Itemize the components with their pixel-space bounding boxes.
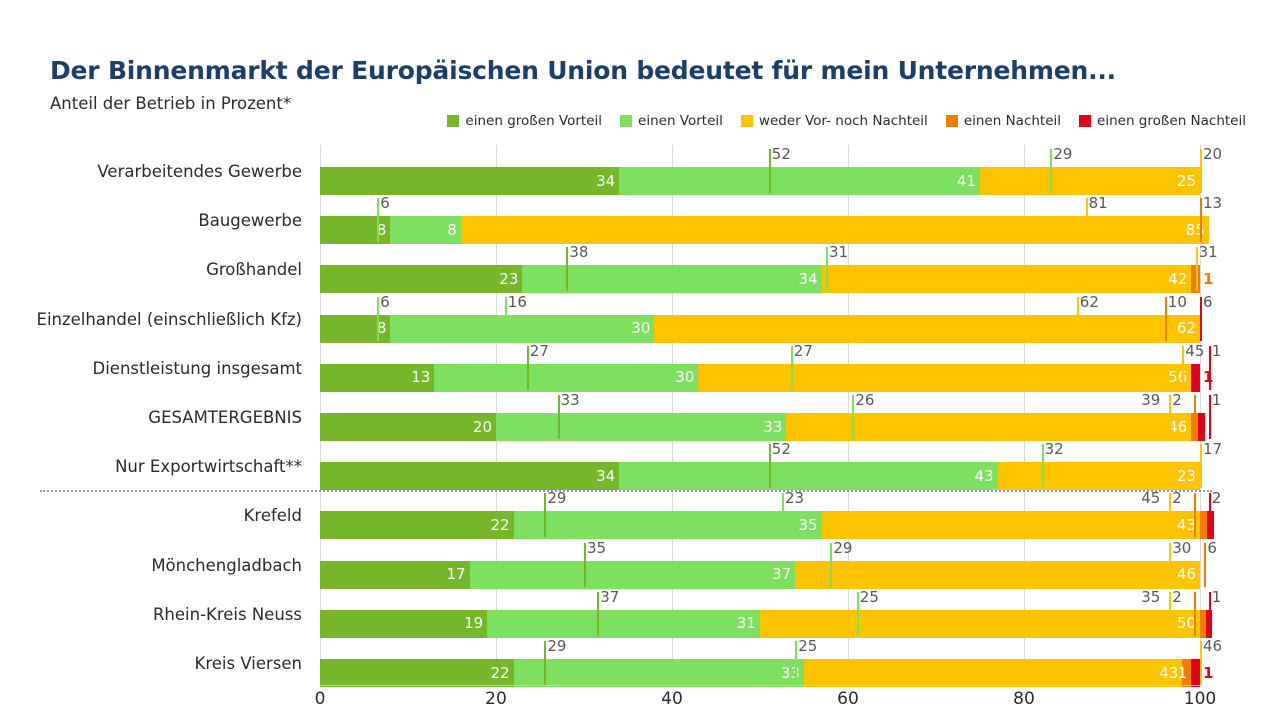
comparison-outer-value: 35	[1141, 590, 1160, 605]
segment-value-label: 35	[799, 518, 822, 533]
bar-segment[interactable]: 20	[320, 413, 496, 441]
comparison-tick-value: 81	[1089, 196, 1108, 211]
bar-segment[interactable]: 1	[1191, 659, 1200, 687]
bar-segment[interactable]: 35	[514, 511, 822, 539]
comparison-tick-value: 23	[785, 491, 804, 506]
comparison-tick-value: 6	[380, 295, 390, 310]
segment-value-label: 34	[596, 469, 619, 484]
bar-segment[interactable]: 85	[461, 216, 1209, 244]
bar-segment[interactable]: 41	[619, 167, 980, 195]
comparison-tick-marker: 16	[505, 297, 507, 341]
bar-segment[interactable]: 34	[320, 462, 619, 490]
comparison-tick-value: 1	[1212, 393, 1222, 408]
comparison-tick-marker	[1194, 592, 1196, 636]
x-tick-label: 100	[1184, 689, 1216, 709]
chart-row: Kreis Viersen22334311292546	[320, 639, 1200, 688]
comparison-tick-value: 6	[380, 196, 390, 211]
bar-segment[interactable]: 33	[496, 413, 786, 441]
segment-value-label: 41	[957, 174, 980, 189]
comparison-tick-value: 17	[1203, 442, 1222, 457]
bar-segment[interactable]: 56	[698, 364, 1191, 392]
comparison-tick-value: 1	[1212, 590, 1222, 605]
comparison-tick-value: 27	[530, 344, 549, 359]
segment-value-label: 22	[491, 518, 514, 533]
x-tick-label: 40	[661, 689, 683, 709]
comparison-tick-value: 10	[1168, 295, 1187, 310]
stacked-bar: 2334421	[320, 265, 1200, 293]
comparison-tick-marker: 38	[566, 247, 568, 291]
legend-swatch-icon	[620, 115, 632, 127]
chart-row: Mönchengladbach1737463529306	[320, 541, 1200, 590]
segment-value-label: 46	[1177, 567, 1200, 582]
row-label-1: Baugewerbe	[198, 196, 302, 245]
bar-rows: Verarbeitendes Gewerbe344125522920Baugew…	[320, 145, 1200, 685]
row-label-10: Kreis Viersen	[195, 639, 302, 688]
x-tick-label: 20	[485, 689, 507, 709]
comparison-tick-value: 62	[1080, 295, 1099, 310]
bar-segment[interactable]	[1198, 413, 1205, 441]
comparison-tick-value: 46	[1203, 639, 1222, 654]
comparison-tick-marker: 23	[782, 493, 784, 537]
chart-row: GESAMTERGEBNIS20334633262139	[320, 393, 1200, 442]
legend-swatch-icon	[741, 115, 753, 127]
comparison-tick-marker: 29	[544, 493, 546, 537]
bar-segment[interactable]: 43	[619, 462, 997, 490]
legend-item-3[interactable]: einen Nachteil	[946, 113, 1061, 129]
segment-value-label: 13	[411, 370, 434, 385]
comparison-tick-value: 31	[1199, 245, 1218, 260]
segment-value-label: 20	[473, 420, 496, 435]
segment-value-label: 56	[1168, 370, 1191, 385]
comparison-tick-value: 30	[1172, 541, 1191, 556]
comparison-tick-marker: 20	[1200, 149, 1202, 193]
comparison-tick-marker: 1	[1209, 346, 1211, 390]
comparison-tick-marker: 45	[1182, 346, 1184, 390]
segment-value-label: 30	[631, 321, 654, 336]
row-label-5: GESAMTERGEBNIS	[148, 393, 302, 442]
comparison-tick-value: 25	[798, 639, 817, 654]
stacked-bar: 1330561	[320, 364, 1200, 392]
segment-value-label: 34	[798, 272, 821, 287]
comparison-tick-value: 29	[1053, 147, 1072, 162]
legend-item-1[interactable]: einen Vorteil	[620, 113, 723, 129]
comparison-tick-marker: 25	[857, 592, 859, 636]
stacked-bar: 22334311	[320, 659, 1200, 687]
row-label-8: Mönchengladbach	[151, 541, 302, 590]
bar-segment[interactable]: 30	[434, 364, 698, 392]
comparison-tick-value: 32	[1045, 442, 1064, 457]
bar-segment[interactable]: 37	[470, 561, 796, 589]
comparison-tick-marker: 27	[791, 346, 793, 390]
comparison-tick-marker: 1	[1209, 395, 1211, 439]
chart-row: Verarbeitendes Gewerbe344125522920	[320, 147, 1200, 196]
bar-segment[interactable]: 23	[320, 265, 522, 293]
stacked-bar: 203346	[320, 413, 1200, 441]
row-label-3: Einzelhandel (einschließlich Kfz)	[37, 295, 302, 344]
comparison-tick-marker	[1194, 493, 1196, 537]
chart-row: Nur Exportwirtschaft**344323523217	[320, 442, 1200, 491]
row-label-0: Verarbeitendes Gewerbe	[97, 147, 302, 196]
comparison-tick-marker: 29	[544, 641, 546, 685]
segment-value-label: 1	[1200, 272, 1213, 287]
comparison-tick-marker: 33	[558, 395, 560, 439]
bar-segment[interactable]: 43	[822, 511, 1200, 539]
comparison-tick-marker: 30	[1169, 543, 1171, 587]
comparison-tick-value: 29	[547, 639, 566, 654]
legend-label: einen Vorteil	[638, 113, 723, 129]
comparison-tick-value: 6	[1203, 295, 1213, 310]
bar-segment[interactable]: 33	[514, 659, 804, 687]
comparison-tick-value: 1	[1212, 344, 1222, 359]
bar-segment[interactable]: 46	[795, 561, 1200, 589]
segment-value-label: 33	[763, 420, 786, 435]
segment-value-label: 46	[1168, 420, 1191, 435]
comparison-tick-marker: 32	[1042, 444, 1044, 488]
comparison-tick-marker: 17	[1200, 444, 1202, 488]
segment-value-label: 22	[491, 666, 514, 681]
comparison-tick-marker: 2	[1209, 493, 1211, 537]
comparison-tick-marker: 62	[1077, 297, 1079, 341]
bar-segment[interactable]: 17	[320, 561, 470, 589]
comparison-tick-marker: 37	[597, 592, 599, 636]
comparison-tick-marker: 6	[377, 198, 379, 242]
bar-segment[interactable]: 1	[1182, 659, 1191, 687]
row-label-2: Großhandel	[206, 245, 302, 294]
plot-area: Verarbeitendes Gewerbe344125522920Baugew…	[320, 145, 1200, 685]
comparison-tick-marker: 31	[1196, 247, 1198, 291]
segment-value-label: 33	[781, 666, 804, 681]
chart-row: Baugewerbe888568113	[320, 196, 1200, 245]
bar-segment[interactable]: 22	[320, 659, 514, 687]
bar-segment[interactable]: 13	[320, 364, 434, 392]
comparison-tick-value: 33	[561, 393, 580, 408]
comparison-tick-value: 27	[794, 344, 813, 359]
comparison-tick-value: 45	[1185, 344, 1204, 359]
stacked-bar: 193150	[320, 610, 1200, 638]
page-title: Der Binnenmarkt der Europäischen Union b…	[50, 56, 1116, 85]
segment-value-label: 30	[675, 370, 698, 385]
legend-item-4[interactable]: einen großen Nachteil	[1079, 113, 1246, 129]
comparison-outer-value: 39	[1141, 393, 1160, 408]
bar-segment[interactable]: 46	[786, 413, 1191, 441]
chart-row: Einzelhandel (einschließlich Kfz)8306261…	[320, 295, 1200, 344]
segment-value-label: 31	[737, 616, 760, 631]
bar-segment[interactable]	[1200, 511, 1207, 539]
row-label-6: Nur Exportwirtschaft**	[115, 442, 302, 491]
bar-segment[interactable]: 50	[760, 610, 1200, 638]
segment-value-label: 8	[447, 223, 461, 238]
chart-row: Krefeld22354329232245	[320, 491, 1200, 540]
chart-container: Der Binnenmarkt der Europäischen Union b…	[0, 0, 1280, 720]
comparison-tick-marker: 26	[852, 395, 854, 439]
comparison-tick-marker: 10	[1165, 297, 1167, 341]
comparison-tick-marker: 2	[1169, 493, 1171, 537]
comparison-tick-value: 16	[508, 295, 527, 310]
bar-segment[interactable]: 8	[320, 315, 390, 343]
bar-segment[interactable]: 19	[320, 610, 487, 638]
comparison-tick-value: 26	[855, 393, 874, 408]
bar-segment[interactable]: 8	[390, 216, 460, 244]
comparison-tick-marker: 31	[826, 247, 828, 291]
bar-segment[interactable]: 1	[1191, 364, 1200, 392]
bar-segment[interactable]: 31	[487, 610, 760, 638]
comparison-tick-value: 29	[833, 541, 852, 556]
chart-legend: einen großen Vorteileinen Vorteilweder V…	[447, 113, 1246, 129]
row-label-7: Krefeld	[244, 491, 302, 540]
comparison-tick-value: 20	[1203, 147, 1222, 162]
comparison-tick-value: 13	[1203, 196, 1222, 211]
comparison-tick-marker: 27	[527, 346, 529, 390]
row-label-9: Rhein-Kreis Neuss	[153, 590, 302, 639]
comparison-tick-marker: 13	[1200, 198, 1202, 242]
row-label-4: Dienstleistung insgesamt	[93, 344, 303, 393]
comparison-tick-value: 2	[1212, 491, 1222, 506]
segment-value-label: 23	[499, 272, 522, 287]
segment-value-label: 43	[1177, 518, 1200, 533]
bar-segment[interactable]: 23	[998, 462, 1200, 490]
comparison-tick-value: 29	[547, 491, 566, 506]
comparison-tick-marker: 35	[584, 543, 586, 587]
legend-label: weder Vor- noch Nachteil	[759, 113, 928, 129]
x-tick-label: 0	[315, 689, 326, 709]
comparison-tick-marker: 52	[769, 149, 771, 193]
comparison-tick-marker: 1	[1209, 592, 1211, 636]
segment-value-label: 85	[1186, 223, 1209, 238]
chart-subtitle: Anteil der Betrieb in Prozent*	[50, 94, 291, 113]
comparison-tick-value: 52	[772, 147, 791, 162]
comparison-tick-marker: 25	[795, 641, 797, 685]
comparison-tick-value: 6	[1207, 541, 1217, 556]
comparison-tick-marker: 29	[1050, 149, 1052, 193]
comparison-tick-marker: 29	[830, 543, 832, 587]
legend-item-2[interactable]: weder Vor- noch Nachteil	[741, 113, 928, 129]
stacked-bar: 8885	[320, 216, 1200, 244]
bar-segment[interactable]: 25	[980, 167, 1200, 195]
stacked-bar: 83062	[320, 315, 1200, 343]
comparison-tick-value: 2	[1172, 491, 1182, 506]
comparison-tick-value: 2	[1172, 590, 1182, 605]
bar-segment[interactable]: 34	[320, 167, 619, 195]
stacked-bar: 344125	[320, 167, 1200, 195]
x-axis-line	[320, 685, 1200, 686]
segment-value-label: 43	[974, 469, 997, 484]
comparison-tick-value: 2	[1172, 393, 1182, 408]
comparison-tick-marker: 2	[1169, 592, 1171, 636]
segment-value-label: 19	[464, 616, 487, 631]
legend-swatch-icon	[1079, 115, 1091, 127]
legend-swatch-icon	[946, 115, 958, 127]
segment-value-label: 23	[1177, 469, 1200, 484]
chart-row: Großhandel2334421383131	[320, 245, 1200, 294]
bar-segment[interactable]: 22	[320, 511, 514, 539]
stacked-bar: 173746	[320, 561, 1200, 589]
segment-value-label: 34	[596, 174, 619, 189]
legend-label: einen großen Vorteil	[465, 113, 602, 129]
comparison-tick-value: 35	[587, 541, 606, 556]
bar-segment[interactable]: 8	[320, 216, 390, 244]
stacked-bar: 223543	[320, 511, 1200, 539]
stacked-bar: 344323	[320, 462, 1200, 490]
comparison-tick-marker: 6	[377, 297, 379, 341]
legend-label: einen großen Nachteil	[1097, 113, 1246, 129]
segment-value-label: 1	[1200, 666, 1213, 681]
legend-item-0[interactable]: einen großen Vorteil	[447, 113, 602, 129]
segment-value-label: 17	[447, 567, 470, 582]
segment-value-label: 25	[1177, 174, 1200, 189]
bar-segment[interactable]: 62	[654, 315, 1200, 343]
comparison-tick-marker: 46	[1200, 641, 1202, 685]
comparison-tick-value: 52	[772, 442, 791, 457]
comparison-tick-marker: 52	[769, 444, 771, 488]
segment-value-label: 1	[1178, 666, 1192, 681]
comparison-outer-value: 45	[1141, 491, 1160, 506]
segment-value-label: 1	[1200, 370, 1213, 385]
comparison-tick-value: 37	[600, 590, 619, 605]
chart-row: Dienstleistung insgesamt13305612727451	[320, 344, 1200, 393]
comparison-tick-value: 25	[860, 590, 879, 605]
x-tick-label: 80	[1013, 689, 1035, 709]
comparison-tick-value: 31	[829, 245, 848, 260]
legend-swatch-icon	[447, 115, 459, 127]
segment-value-label: 37	[772, 567, 795, 582]
comparison-tick-marker: 6	[1204, 543, 1206, 587]
comparison-tick-value: 38	[569, 245, 588, 260]
bar-segment[interactable]: 42	[822, 265, 1192, 293]
legend-label: einen Nachteil	[964, 113, 1061, 129]
comparison-tick-marker	[1194, 395, 1196, 439]
comparison-tick-marker: 81	[1086, 198, 1088, 242]
chart-row: Rhein-Kreis Neuss19315037252135	[320, 590, 1200, 639]
comparison-tick-marker: 2	[1169, 395, 1171, 439]
segment-value-label: 42	[1168, 272, 1191, 287]
comparison-tick-marker: 6	[1200, 297, 1202, 341]
bar-segment[interactable]: 30	[390, 315, 654, 343]
segment-value-label: 62	[1177, 321, 1200, 336]
segment-value-label: 50	[1177, 616, 1200, 631]
bar-segment[interactable]: 43	[804, 659, 1182, 687]
x-tick-label: 60	[837, 689, 859, 709]
